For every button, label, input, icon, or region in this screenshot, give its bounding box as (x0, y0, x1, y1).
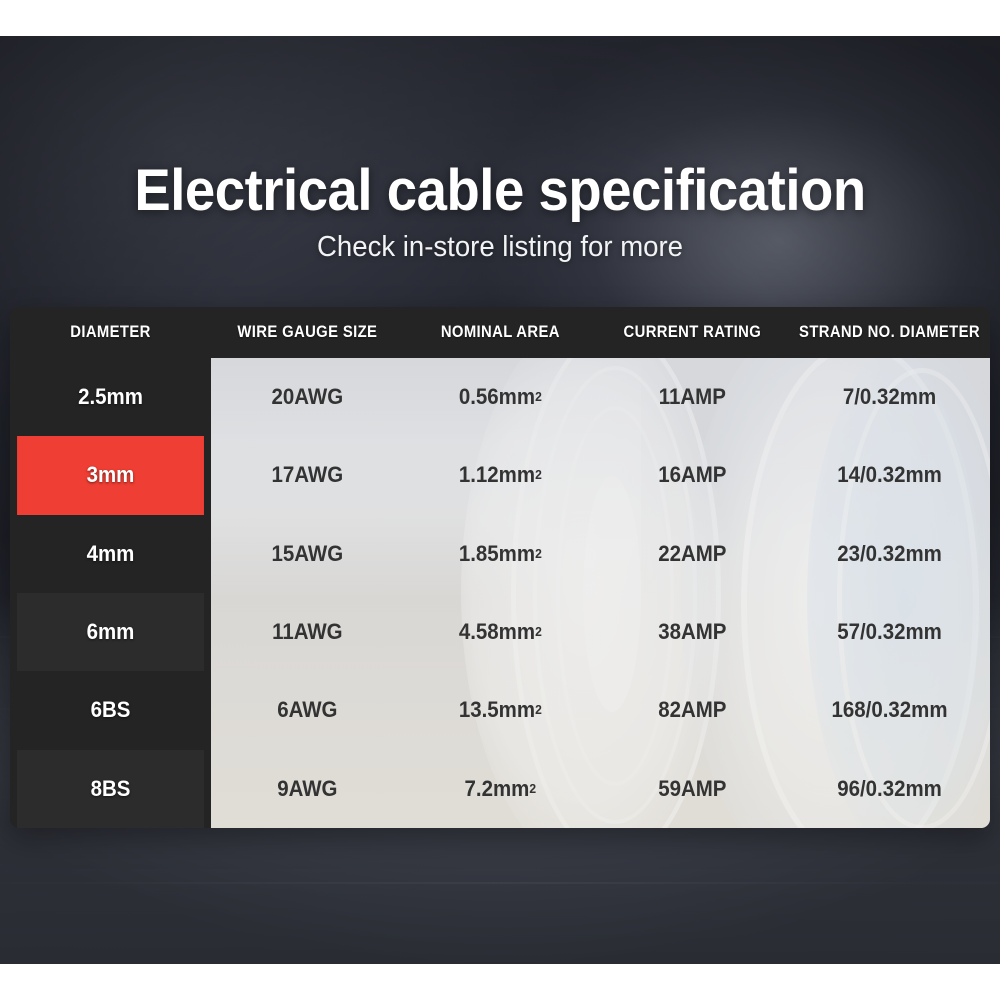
table-cell-strand-no-diameter: 23/0.32mm (796, 515, 983, 593)
table-row-diameter: 2.5mm (17, 358, 204, 436)
table-cell-nominal-area: 7.2mm2 (410, 750, 589, 828)
table-cell-strand-no-diameter: 57/0.32mm (796, 593, 983, 671)
table-row-diameter: 6BS (17, 671, 204, 749)
column-header-nominal-area: NOMINAL AREA (413, 307, 586, 358)
table-cell-current-rating: 38AMP (603, 593, 782, 671)
table-cell-strand-no-diameter: 96/0.32mm (796, 750, 983, 828)
page-subtitle: Check in-store listing for more (25, 230, 975, 264)
heading-block: Electrical cable specification Check in-… (0, 160, 1000, 264)
spec-table: DIAMETER WIRE GAUGE SIZE NOMINAL AREA CU… (10, 307, 990, 828)
column-header-diameter: DIAMETER (20, 307, 201, 358)
table-cell-wire-gauge-size: 15AWG (218, 515, 397, 593)
table-cell-current-rating: 16AMP (603, 436, 782, 514)
table-row-diameter: 6mm (17, 593, 204, 671)
table-cell-current-rating: 22AMP (603, 515, 782, 593)
nominal-area-value: 1.12mm (459, 462, 535, 488)
page-title: Electrical cable specification (30, 160, 970, 222)
column-header-strand-no-diameter: STRAND NO. DIAMETER (799, 307, 980, 358)
table-cell-current-rating: 59AMP (603, 750, 782, 828)
table-cell-nominal-area: 13.5mm2 (410, 671, 589, 749)
nominal-area-value: 7.2mm (464, 776, 529, 802)
column-header-current-rating: CURRENT RATING (606, 307, 779, 358)
table-cell-wire-gauge-size: 6AWG (218, 671, 397, 749)
table-cell-wire-gauge-size: 11AWG (218, 593, 397, 671)
nominal-area-value: 0.56mm (459, 384, 535, 410)
table-cell-nominal-area: 1.12mm2 (410, 436, 589, 514)
table-row-diameter: 4mm (17, 515, 204, 593)
table-cell-nominal-area: 1.85mm2 (410, 515, 589, 593)
table-cell-current-rating: 82AMP (603, 671, 782, 749)
floor-streak (0, 882, 1000, 884)
nominal-area-value: 4.58mm (459, 619, 535, 645)
table-cell-strand-no-diameter: 14/0.32mm (796, 436, 983, 514)
table-cell-wire-gauge-size: 20AWG (218, 358, 397, 436)
table-cell-current-rating: 11AMP (603, 358, 782, 436)
table-cell-nominal-area: 0.56mm2 (410, 358, 589, 436)
product-spec-banner: Electrical cable specification Check in-… (0, 0, 1000, 1000)
table-cell-strand-no-diameter: 7/0.32mm (796, 358, 983, 436)
table-cell-nominal-area: 4.58mm2 (410, 593, 589, 671)
column-header-wire-gauge-size: WIRE GAUGE SIZE (221, 307, 394, 358)
table-cell-strand-no-diameter: 168/0.32mm (796, 671, 983, 749)
table-row-diameter-highlighted: 3mm (17, 436, 204, 514)
table-row-diameter: 8BS (17, 750, 204, 828)
table-cell-wire-gauge-size: 9AWG (218, 750, 397, 828)
nominal-area-value: 13.5mm (459, 697, 535, 723)
nominal-area-value: 1.85mm (459, 541, 535, 567)
table-grid: DIAMETER WIRE GAUGE SIZE NOMINAL AREA CU… (10, 307, 990, 828)
table-cell-wire-gauge-size: 17AWG (218, 436, 397, 514)
